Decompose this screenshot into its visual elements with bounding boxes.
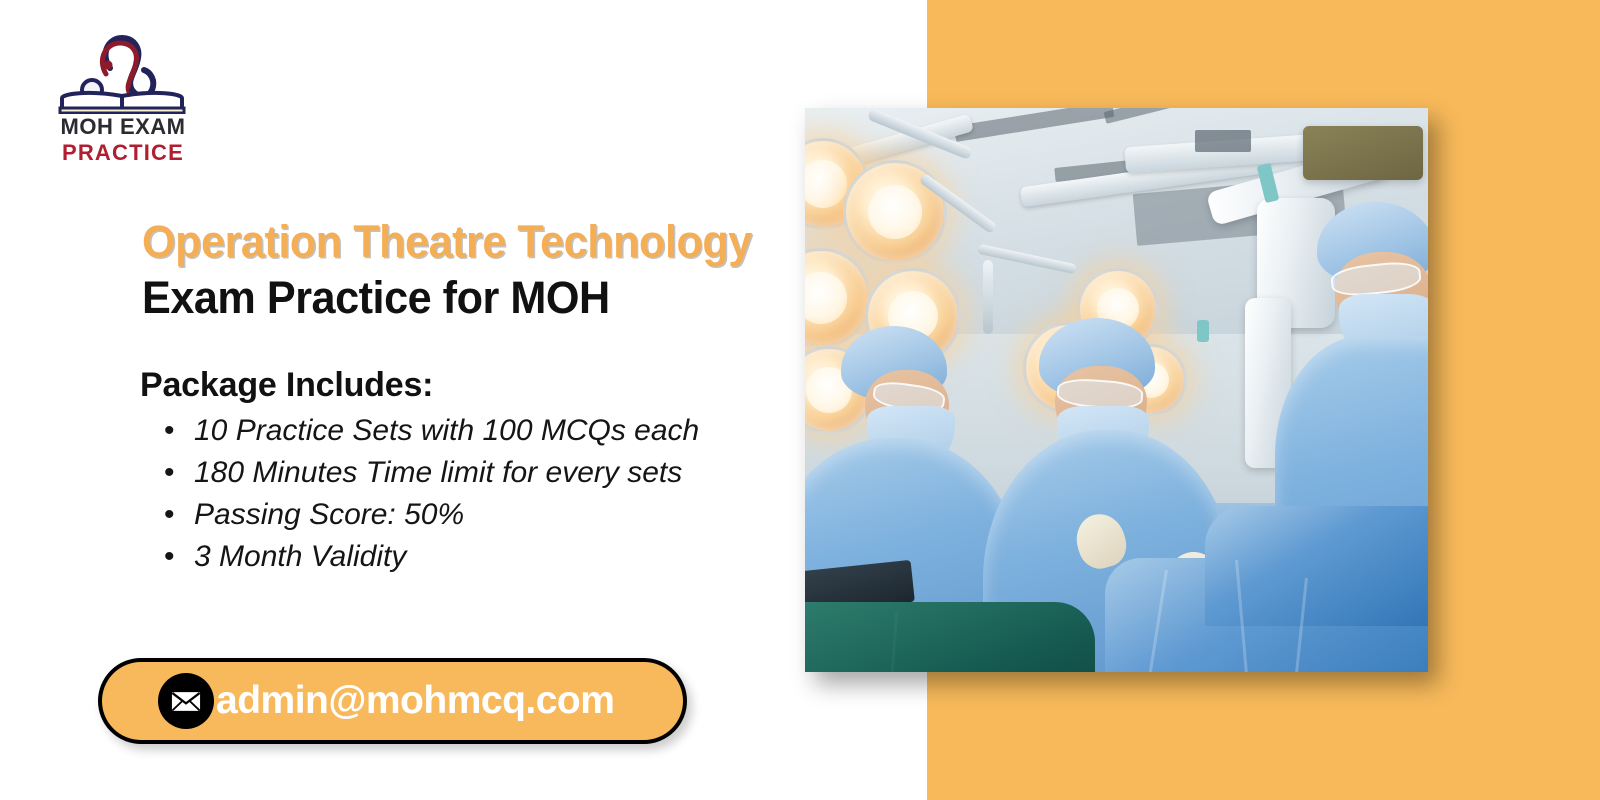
contact-email-text: admin@mohmcq.com [216,679,614,723]
envelope-icon [158,673,214,729]
package-heading: Package Includes: [140,366,433,405]
page-title-secondary: Exam Practice for MOH [142,272,610,324]
stethoscope-book-icon [48,28,198,114]
brand-logo: MOH EXAM PRACTICE [48,28,198,160]
logo-line-1: MOH EXAM [48,116,198,138]
package-list: 10 Practice Sets with 100 MCQs each 180 … [160,410,699,578]
list-item: Passing Score: 50% [160,494,699,536]
contact-email-button[interactable]: admin@mohmcq.com [98,658,687,744]
page-title-primary: Operation Theatre Technology [142,216,752,268]
promo-banner: MOH EXAM PRACTICE Operation Theatre Tech… [0,0,1600,800]
operating-theatre-photo [805,108,1428,672]
list-item: 180 Minutes Time limit for every sets [160,452,699,494]
list-item: 10 Practice Sets with 100 MCQs each [160,410,699,452]
logo-line-2: PRACTICE [48,142,198,164]
list-item: 3 Month Validity [160,536,699,578]
